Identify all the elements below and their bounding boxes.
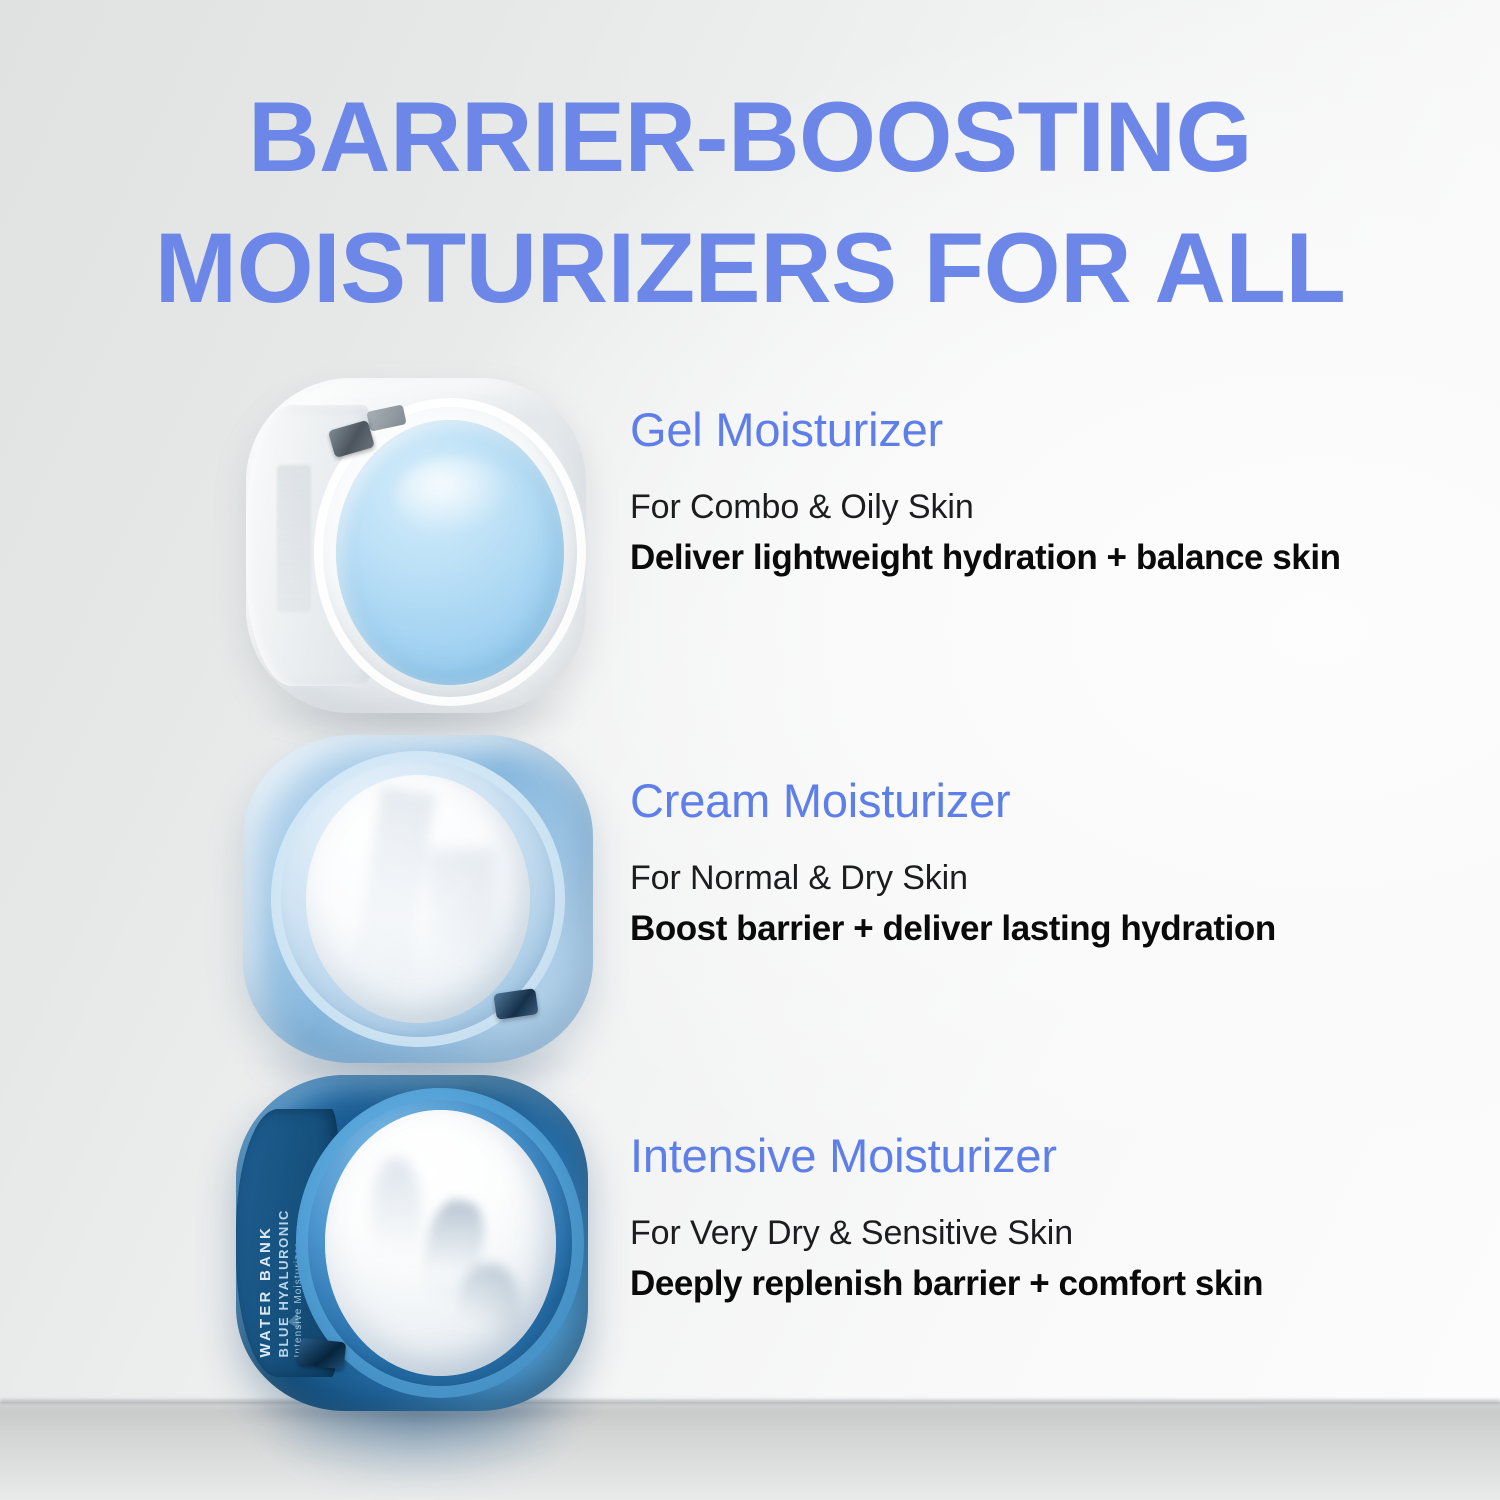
intensive-jar: WATER BANK BLUE HYALURONIC Intensive Moi…: [236, 1075, 588, 1411]
product-title-gel: Gel Moisturizer: [630, 404, 1390, 457]
product-poster: BARRIER-BOOSTING MOISTURIZERS FOR ALL WA…: [0, 0, 1500, 1500]
product-skintype-cream: For Normal & Dry Skin: [630, 857, 1390, 901]
product-copy-gel: Gel Moisturizer For Combo & Oily Skin De…: [630, 404, 1390, 581]
gel-jar-side-label: [277, 465, 311, 612]
product-skintype-intensive: For Very Dry & Sensitive Skin: [630, 1212, 1390, 1256]
product-copy-cream: Cream Moisturizer For Normal & Dry Skin …: [630, 775, 1390, 952]
cream-peak-right: [459, 1264, 519, 1349]
jar-reflection: [262, 1412, 572, 1486]
product-title-intensive: Intensive Moisturizer: [630, 1130, 1390, 1183]
product-benefit-intensive: Deeply replenish barrier + comfort skin: [630, 1261, 1350, 1307]
intensive-jar-hinge: [298, 1338, 346, 1370]
gel-jar-contents: [336, 420, 564, 685]
product-skintype-gel: For Combo & Oily Skin: [630, 486, 1390, 530]
product-title-cream: Cream Moisturizer: [630, 775, 1390, 828]
cream-swirl: [347, 787, 436, 1021]
cream-jar-hinge: [493, 988, 538, 1020]
cream-peak-left: [371, 1158, 422, 1291]
cream-jar: [243, 735, 593, 1063]
intensive-jar-contents: [325, 1110, 556, 1376]
product-copy-intensive: Intensive Moisturizer For Very Dry & Sen…: [630, 1130, 1390, 1307]
recycle-arrow-icon: [287, 1313, 300, 1330]
product-benefit-gel: Deliver lightweight hydration + balance …: [630, 535, 1350, 581]
product-benefit-cream: Boost barrier + deliver lasting hydratio…: [630, 906, 1350, 952]
table-surface: [0, 1402, 1500, 1500]
cream-jar-contents: [306, 775, 529, 1023]
cream-swirl-secondary: [427, 849, 494, 1003]
gel-jar: [246, 378, 586, 713]
table-horizon-line: [0, 1398, 1500, 1405]
page-title: BARRIER-BOOSTING MOISTURIZERS FOR ALL: [0, 72, 1500, 333]
